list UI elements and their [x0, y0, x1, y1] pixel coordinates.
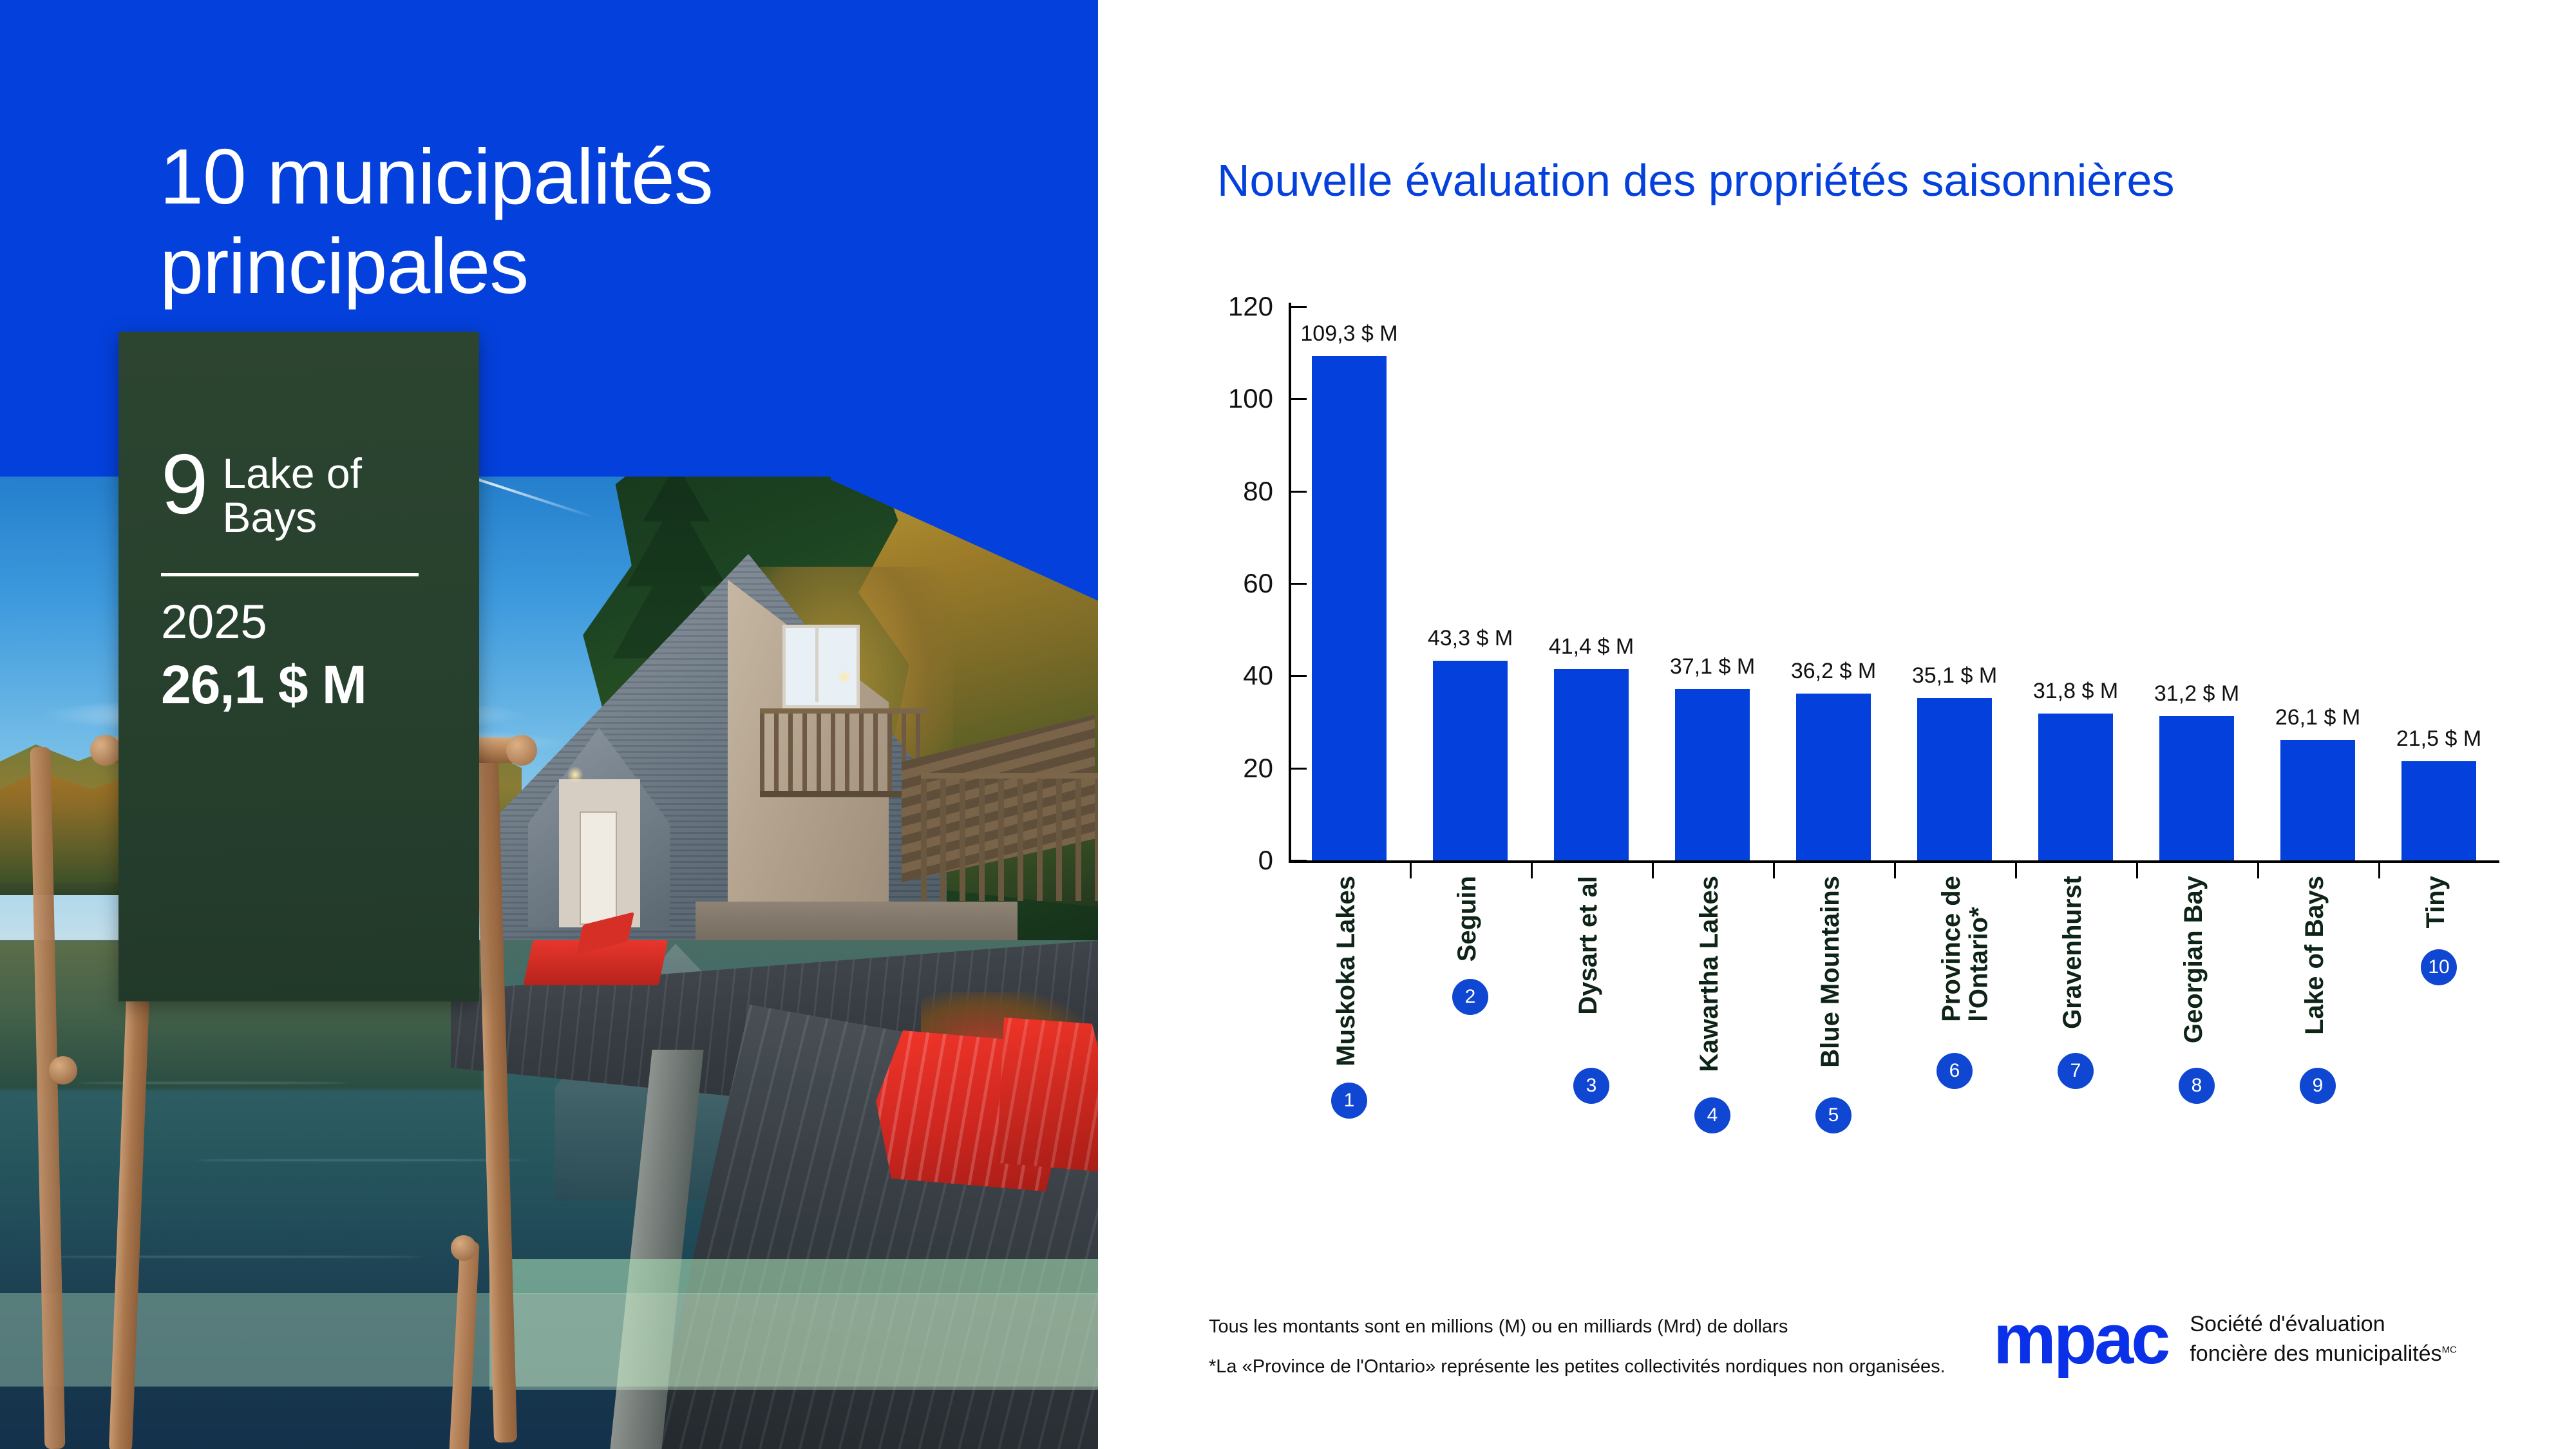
bar-value-label: 31,2 $ M [2154, 681, 2239, 706]
x-axis-tick [1773, 860, 1775, 878]
frame-cap-left [90, 735, 121, 766]
frame-leg-back-right [449, 1241, 479, 1449]
frame-cap-right [506, 735, 537, 766]
bar [1917, 698, 1993, 860]
bar [1312, 356, 1387, 860]
bar-value-label: 31,8 $ M [2033, 679, 2118, 704]
y-axis-label: 20 [1243, 753, 1273, 784]
bar [1554, 669, 1629, 860]
x-axis-tick [2136, 860, 2138, 878]
rank-badge: 6 [1937, 1053, 1973, 1089]
feature-card-content: 9 Lake of Bays 2025 26,1 $ M [161, 444, 464, 712]
y-axis-label: 80 [1243, 476, 1273, 507]
x-axis-tick [1531, 860, 1533, 878]
mpac-tagline: Société d'évaluation foncière des munici… [2190, 1310, 2457, 1368]
x-axis-tick [1410, 860, 1412, 878]
mpac-logo: mpac Société d'évaluation foncière des m… [1993, 1307, 2457, 1371]
bar [2038, 714, 2114, 860]
bar-value-label: 109,3 $ M [1300, 321, 1397, 346]
y-axis-tick [1289, 860, 1307, 862]
frame-pivot-left [49, 1056, 77, 1084]
x-axis-category-label: Province de l'Ontario* [1938, 876, 1993, 1022]
rank-badge: 10 [2421, 949, 2457, 985]
x-axis-category-label: Muskoka Lakes [1332, 876, 1359, 1066]
trademark-mark: MC [2442, 1344, 2457, 1355]
page-title-line-1: 10 municipalités [160, 132, 933, 222]
bar [1796, 694, 1871, 860]
x-axis-category-label: Tiny [2422, 876, 2449, 929]
rank-badge: 1 [1331, 1083, 1367, 1119]
mpac-tagline-line-1: Société d'évaluation [2190, 1310, 2457, 1340]
y-axis-tick [1289, 306, 1307, 308]
feature-card-divider [161, 573, 419, 576]
bar-value-label: 36,2 $ M [1791, 659, 1876, 684]
x-axis-tick [1652, 860, 1654, 878]
footnote-amounts: Tous les montants sont en millions (M) o… [1209, 1316, 1788, 1338]
bar-chart: 120100806040200 109,3 $ M43,3 $ M41,4 $ … [1289, 303, 2499, 863]
bar [1433, 661, 1508, 860]
rank-badge: 9 [2300, 1068, 2336, 1104]
feature-card-rank: 9 [161, 444, 208, 524]
x-axis-tick [2015, 860, 2017, 878]
bar [2401, 761, 2477, 860]
feature-card-amount: 26,1 $ M [161, 658, 464, 712]
bar-value-label: 43,3 $ M [1428, 626, 1513, 651]
x-axis-category-label: Kawartha Lakes [1696, 876, 1723, 1072]
rank-badge: 2 [1452, 979, 1488, 1015]
bar [2159, 716, 2235, 860]
y-axis-tick [1289, 398, 1307, 400]
frame-leg-right [475, 741, 517, 1443]
page-title-line-2: principales [160, 222, 933, 311]
bar-value-label: 21,5 $ M [2396, 726, 2481, 752]
y-axis-label: 60 [1243, 568, 1273, 599]
rank-badge: 4 [1694, 1097, 1730, 1133]
x-axis-category-label: Georgian Bay [2180, 876, 2207, 1043]
x-axis-category-label: Lake of Bays [2301, 876, 2328, 1035]
bar-value-label: 41,4 $ M [1549, 634, 1634, 659]
frame-leg-back-left [30, 747, 66, 1449]
bar-value-label: 37,1 $ M [1670, 654, 1755, 679]
rank-badge: 5 [1815, 1097, 1851, 1133]
x-axis-tick [2378, 860, 2380, 878]
feature-card-rank-row: 9 Lake of Bays [161, 444, 464, 540]
y-axis-tick [1289, 583, 1307, 585]
page-title: 10 municipalités principales [160, 132, 933, 311]
y-axis-tick [1289, 768, 1307, 770]
bar [2280, 740, 2356, 860]
left-panel: 9 Lake of Bays 2025 26,1 $ M 10 municipa… [0, 0, 1098, 1449]
x-axis-category-label: Dysart et al [1575, 876, 1602, 1015]
y-axis-tick [1289, 675, 1307, 677]
feature-card-municipality: Lake of Bays [222, 444, 464, 540]
y-axis-tick [1289, 491, 1307, 493]
mpac-wordmark: mpac [1993, 1307, 2168, 1371]
rank-badge: 7 [2058, 1053, 2094, 1089]
bar-value-label: 26,1 $ M [2275, 705, 2360, 730]
bar [1675, 689, 1750, 860]
x-axis-category-label: Blue Mountains [1817, 876, 1844, 1068]
y-axis-label: 100 [1228, 383, 1273, 414]
chart-panel: Nouvelle évaluation des propriétés saiso… [1098, 0, 2576, 1449]
x-axis-tick [1894, 860, 1896, 878]
frame-pivot-right [451, 1235, 477, 1261]
mpac-tagline-line-2: foncière des municipalitésMC [2190, 1340, 2457, 1369]
y-axis-label: 0 [1258, 845, 1273, 876]
chart-title: Nouvelle évaluation des propriétés saiso… [1217, 155, 2174, 206]
footnote-province: *La «Province de l'Ontario» représente l… [1209, 1356, 1946, 1378]
y-axis-label: 40 [1243, 660, 1273, 691]
bar-value-label: 35,1 $ M [1912, 663, 1997, 688]
y-axis-label: 120 [1228, 291, 1273, 322]
x-axis-category-label: Gravenhurst [2059, 876, 2086, 1029]
rank-badge: 3 [1573, 1068, 1609, 1104]
rank-badge: 8 [2179, 1068, 2215, 1104]
x-axis-tick [2257, 860, 2259, 878]
mpac-tagline-line-2-text: foncière des municipalités [2190, 1341, 2441, 1366]
feature-card-year: 2025 [161, 598, 464, 646]
x-axis-category-label: Seguin [1454, 876, 1481, 961]
